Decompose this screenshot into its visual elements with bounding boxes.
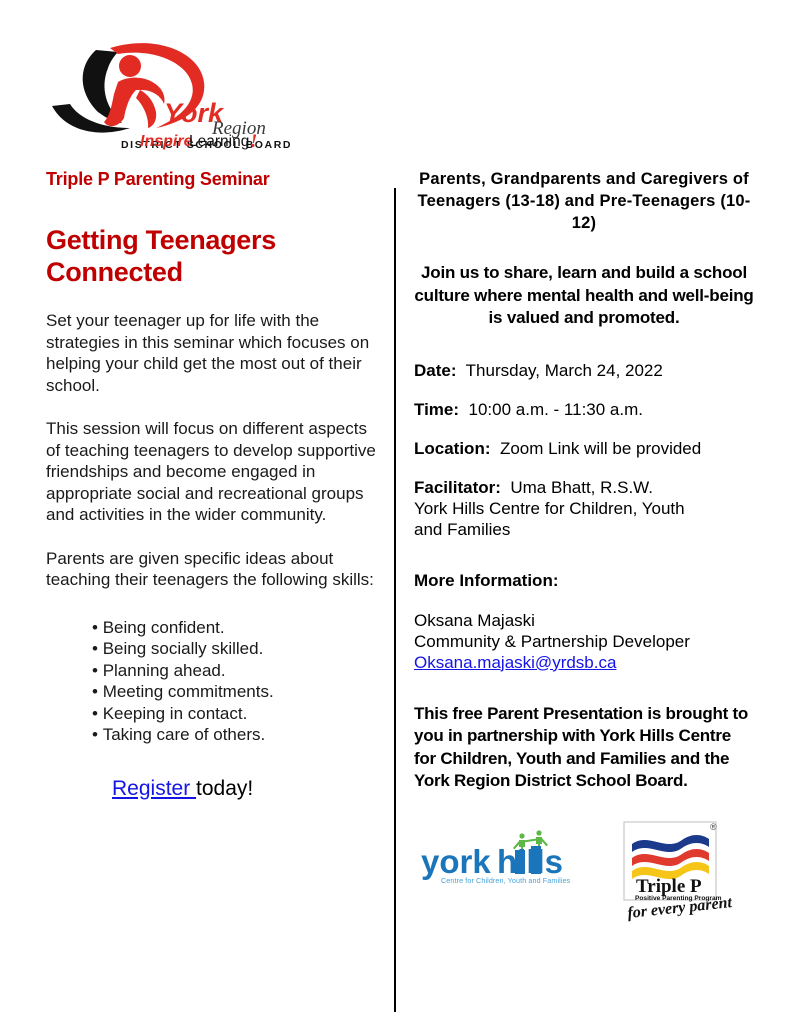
contact-role: Community & Partnership Developer: [414, 631, 754, 652]
triple-p-title: Triple P: [636, 876, 702, 897]
tagline-learning: Learning: [189, 133, 249, 150]
more-information-heading: More Information:: [414, 570, 754, 591]
york-hills-word-york: york: [421, 843, 491, 880]
seminar-kicker: Triple P Parenting Seminar: [46, 168, 376, 190]
partnership-statement: This free Parent Presentation is brought…: [414, 703, 754, 793]
page-title: Getting Teenagers Connected: [46, 224, 376, 288]
detail-label-date: Date:: [414, 361, 457, 380]
detail-date: Date: Thursday, March 24, 2022: [414, 360, 754, 381]
contact-email-link[interactable]: Oksana.majaski@yrdsb.ca: [414, 653, 616, 672]
tagline-inspire: Inspire: [140, 133, 193, 150]
triple-p-logo-graphic: ® Triple P Positive Parenting Program fo…: [614, 818, 749, 928]
york-hills-logo-graphic: york hills Centre for Children, Youth an…: [419, 828, 584, 898]
inspire-learning-tagline: Inspire Learning !: [140, 128, 320, 154]
list-item: Planning ahead.: [92, 660, 376, 682]
detail-time: Time: 10:00 a.m. - 11:30 a.m.: [414, 399, 754, 420]
flyer-page: York Region DISTRICT SCHOOL BOARD Inspir…: [0, 0, 791, 1023]
detail-value-location: Zoom Link will be provided: [500, 439, 701, 458]
list-item: Keeping in contact.: [92, 703, 376, 725]
detail-label-time: Time:: [414, 400, 459, 419]
register-line: Register today!: [46, 776, 376, 802]
detail-facilitator: Facilitator: Uma Bhatt, R.S.W.: [414, 477, 754, 498]
detail-value-time: 10:00 a.m. - 11:30 a.m.: [469, 400, 644, 419]
detail-value-facilitator: Uma Bhatt, R.S.W.: [510, 478, 653, 497]
skills-list: Being confident. Being socially skilled.…: [46, 617, 376, 746]
partner-logos: york hills Centre for Children, Youth an…: [414, 818, 754, 928]
audience-heading: Parents, Grandparents and Caregivers of …: [414, 168, 754, 234]
detail-location: Location: Zoom Link will be provided: [414, 438, 754, 459]
left-column: Triple P Parenting Seminar Getting Teena…: [46, 168, 376, 802]
york-hills-logo: york hills Centre for Children, Youth an…: [419, 828, 584, 898]
detail-label-location: Location:: [414, 439, 491, 458]
york-hills-subtitle: Centre for Children, Youth and Families: [441, 876, 571, 885]
paragraph-session-focus: This session will focus on different asp…: [46, 418, 376, 526]
contact-name: Oksana Majaski: [414, 610, 754, 631]
right-column: Parents, Grandparents and Caregivers of …: [414, 168, 754, 793]
mission-tagline: Join us to share, learn and build a scho…: [414, 262, 754, 330]
paragraph-intro: Set your teenager up for life with the s…: [46, 310, 376, 396]
facilitator-org-line-1: York Hills Centre for Children, Youth: [414, 498, 754, 519]
facilitator-org-line-2: and Families: [414, 519, 754, 540]
detail-value-date: Thursday, March 24, 2022: [466, 361, 663, 380]
tagline-exclamation: !: [250, 131, 257, 152]
yrdsb-logo: York Region DISTRICT SCHOOL BOARD Inspir…: [44, 36, 304, 151]
list-item: Taking care of others.: [92, 724, 376, 746]
list-item: Meeting commitments.: [92, 681, 376, 703]
paragraph-skills-intro: Parents are given specific ideas about t…: [46, 548, 376, 591]
register-link[interactable]: Register: [112, 777, 196, 800]
york-hills-word-hills: hills: [497, 843, 563, 880]
list-item: Being socially skilled.: [92, 638, 376, 660]
registered-trademark-icon: ®: [710, 822, 717, 832]
contact-block: Oksana Majaski Community & Partnership D…: [414, 610, 754, 673]
column-divider: [394, 188, 396, 1012]
event-details: Date: Thursday, March 24, 2022 Time: 10:…: [414, 360, 754, 540]
detail-label-facilitator: Facilitator:: [414, 478, 501, 497]
triple-p-logo: ® Triple P Positive Parenting Program fo…: [614, 818, 749, 928]
register-today-text: today!: [196, 777, 253, 800]
list-item: Being confident.: [92, 617, 376, 639]
